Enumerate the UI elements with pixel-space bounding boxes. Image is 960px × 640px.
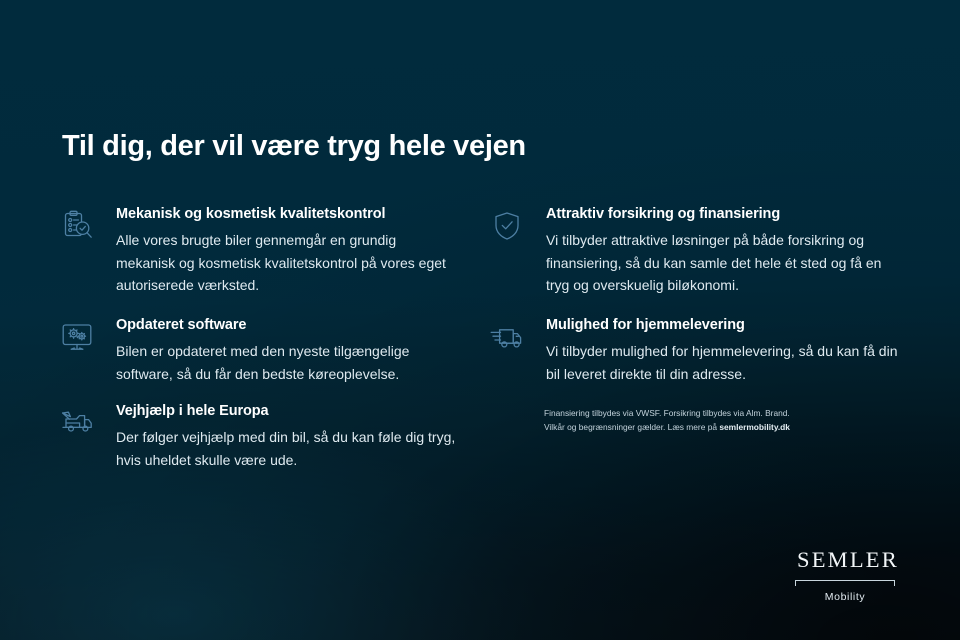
clipboard-checklist-magnifier-icon [58, 207, 96, 245]
feature-item-updated-software: Opdateret software Bilen er opdateret me… [58, 316, 458, 385]
feature-body: Der følger vejhjælp med din bil, så du k… [116, 426, 458, 471]
disclaimer-line-1: Finansiering tilbydes via VWSF. Forsikri… [544, 407, 874, 421]
feature-body: Vi tilbyder mulighed for hjemmelevering,… [546, 340, 908, 385]
logo-subtitle: Mobility [795, 592, 895, 603]
tow-truck-icon [58, 404, 96, 442]
feature-title: Mekanisk og kosmetisk kvalitetskontrol [116, 205, 458, 224]
feature-item-quality-control: Mekanisk og kosmetisk kvalitetskontrol A… [58, 205, 458, 297]
disclaimer-line-2-prefix: Vilkår og begrænsninger gælder. Læs mere… [544, 422, 719, 432]
delivery-truck-icon [488, 318, 526, 356]
logo-wordmark: SEMLER [795, 549, 895, 572]
feature-item-roadside-assistance: Vejhjælp i hele Europa Der følger vejhjæ… [58, 402, 458, 471]
monitor-gears-icon [58, 318, 96, 356]
semler-mobility-logo: SEMLER Mobility [795, 549, 895, 602]
slide-root: Til dig, der vil være tryg hele vejen [0, 0, 960, 640]
disclaimer-text: Finansiering tilbydes via VWSF. Forsikri… [544, 407, 874, 435]
logo-divider-rule [795, 580, 895, 588]
feature-title: Attraktiv forsikring og finansiering [546, 205, 908, 224]
disclaimer-line-2: Vilkår og begrænsninger gælder. Læs mere… [544, 421, 874, 435]
feature-title: Mulighed for hjemmelevering [546, 316, 908, 335]
feature-title: Vejhjælp i hele Europa [116, 402, 458, 421]
feature-body: Vi tilbyder attraktive løsninger på både… [546, 229, 908, 297]
page-title: Til dig, der vil være tryg hele vejen [62, 130, 526, 163]
feature-title: Opdateret software [116, 316, 458, 335]
feature-item-home-delivery: Mulighed for hjemmelevering Vi tilbyder … [488, 316, 908, 385]
feature-body: Bilen er opdateret med den nyeste tilgæn… [116, 340, 458, 385]
feature-item-insurance-financing: Attraktiv forsikring og finansiering Vi … [488, 205, 908, 297]
feature-body: Alle vores brugte biler gennemgår en gru… [116, 229, 458, 297]
disclaimer-website-link[interactable]: semlermobility.dk [719, 422, 790, 432]
shield-check-icon [488, 207, 526, 245]
